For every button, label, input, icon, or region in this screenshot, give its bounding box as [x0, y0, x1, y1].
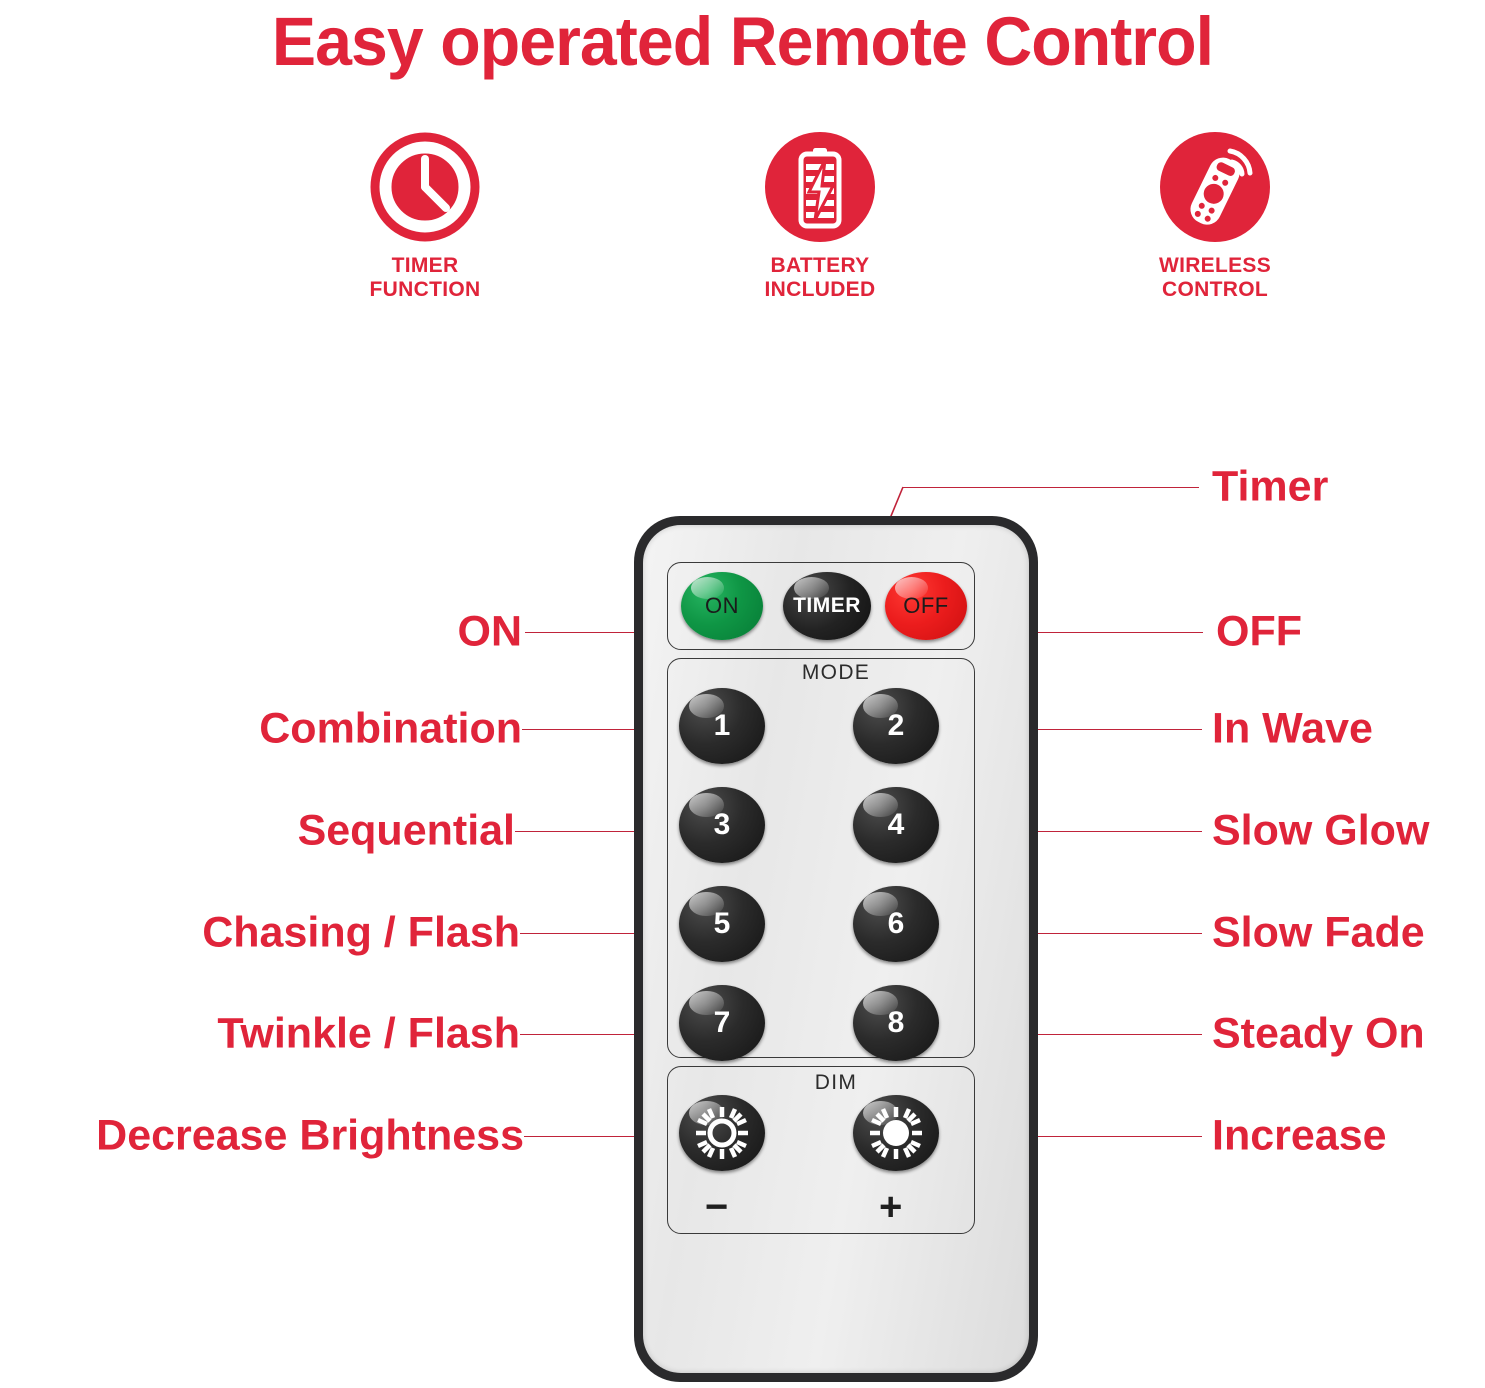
mode-button-5[interactable]: 5: [679, 886, 765, 962]
mode-button-label: 7: [714, 1006, 731, 1040]
mode-section-label: MODE: [643, 661, 1029, 685]
minus-symbol: −: [705, 1187, 728, 1227]
mode-button-4[interactable]: 4: [853, 787, 939, 863]
callout-steadyon: Steady On: [1212, 1013, 1425, 1056]
sun-outline-icon: [692, 1103, 752, 1163]
mode-button-label: 4: [888, 808, 905, 842]
on-button-label: ON: [705, 593, 739, 619]
callout-timer: Timer: [1212, 466, 1328, 509]
callout-decrease: Decrease Brightness: [96, 1115, 524, 1158]
callout-inwave: In Wave: [1212, 708, 1373, 751]
timer-button[interactable]: TIMER: [783, 572, 871, 640]
callout-combination: Combination: [259, 708, 522, 751]
callout-off: OFF: [1216, 611, 1302, 654]
callout-on: ON: [458, 611, 523, 654]
mode-button-label: 6: [888, 907, 905, 941]
off-button-label: OFF: [903, 593, 949, 619]
timer-button-label: TIMER: [793, 594, 861, 618]
off-button[interactable]: OFF: [885, 572, 967, 640]
infographic-page: Easy operated Remote Control TIMER FUNCT…: [0, 0, 1485, 1388]
on-button[interactable]: ON: [681, 572, 763, 640]
mode-button-label: 2: [888, 709, 905, 743]
mode-button-label: 3: [714, 808, 731, 842]
mode-button-7[interactable]: 7: [679, 985, 765, 1061]
callout-slowglow: Slow Glow: [1212, 810, 1429, 853]
mode-button-label: 5: [714, 907, 731, 941]
mode-button-1[interactable]: 1: [679, 688, 765, 764]
callout-sequential: Sequential: [298, 810, 515, 853]
dim-section-label: DIM: [643, 1071, 1029, 1095]
callout-twinkle: Twinkle / Flash: [217, 1013, 520, 1056]
increase-brightness-button[interactable]: [853, 1095, 939, 1171]
mode-button-6[interactable]: 6: [853, 886, 939, 962]
mode-button-label: 8: [888, 1006, 905, 1040]
remote-body: MODE DIM ON TIMER OFF 1 2: [643, 525, 1029, 1373]
remote-control-device: MODE DIM ON TIMER OFF 1 2: [634, 516, 1038, 1382]
mode-button-2[interactable]: 2: [853, 688, 939, 764]
mode-button-8[interactable]: 8: [853, 985, 939, 1061]
mode-button-3[interactable]: 3: [679, 787, 765, 863]
callout-slowfade: Slow Fade: [1212, 912, 1425, 955]
callout-chasing: Chasing / Flash: [202, 912, 520, 955]
callout-increase: Increase: [1212, 1115, 1387, 1158]
plus-symbol: +: [879, 1187, 902, 1227]
mode-button-label: 1: [714, 709, 731, 743]
decrease-brightness-button[interactable]: [679, 1095, 765, 1171]
sun-filled-icon: [866, 1103, 926, 1163]
